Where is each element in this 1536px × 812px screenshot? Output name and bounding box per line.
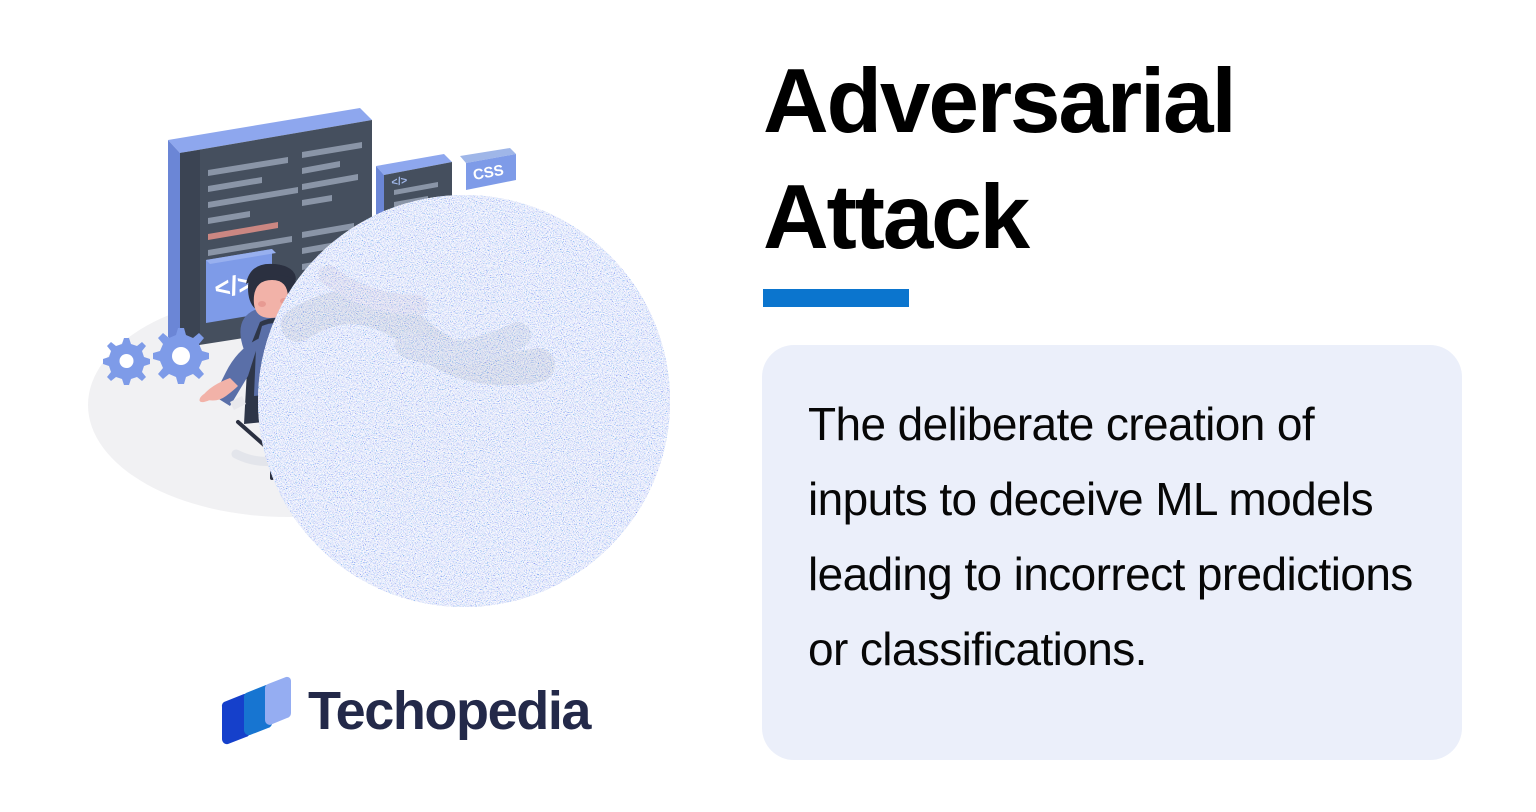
techopedia-wordmark: Techopedia <box>308 684 590 738</box>
svg-text:</>: </> <box>391 175 409 189</box>
illustration-panel: </> <box>0 0 760 812</box>
title-accent-bar <box>763 289 909 307</box>
techopedia-logo-mark <box>218 676 292 746</box>
definition-card: The deliberate creation of inputs to dec… <box>762 345 1462 760</box>
content-panel: Adversarial Attack The deliberate creati… <box>762 0 1536 812</box>
techopedia-logo: Techopedia <box>218 676 590 746</box>
adversarial-noise-disc <box>258 195 670 607</box>
tag-css: CSS <box>460 148 516 190</box>
definition-card-canvas: </> <box>0 0 1536 812</box>
definition-text: The deliberate creation of inputs to dec… <box>808 387 1418 687</box>
page-title: Adversarial Attack <box>763 44 1463 277</box>
